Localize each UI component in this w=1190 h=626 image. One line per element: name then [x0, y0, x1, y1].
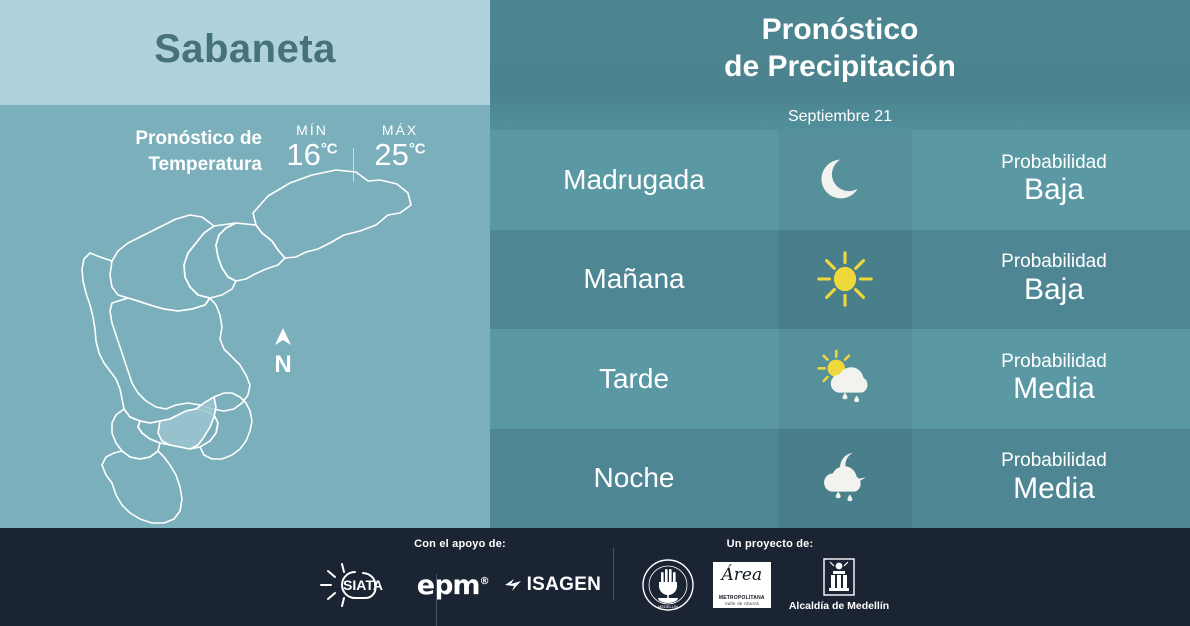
footer: Con el apoyo de: SIATA — [0, 528, 1190, 620]
weather-icon-cell — [778, 329, 912, 429]
municipality-girardota — [216, 223, 285, 281]
footer-divider-1 — [436, 574, 437, 626]
temperature-max-label: MÁX — [360, 122, 440, 138]
forecast-title-line2: de Precipitación — [724, 50, 956, 83]
probability-word: Probabilidad — [918, 251, 1190, 273]
footer-support-label: Con el apoyo de: — [300, 538, 620, 550]
municipality-caldas — [102, 451, 182, 523]
area-logo-sub2: Valle de Aburrá — [725, 601, 759, 606]
alcaldia-shield-icon — [822, 558, 856, 598]
forecast-panel: Pronóstico de Precipitación Septiembre 2… — [490, 0, 1190, 528]
footer-support-logos: SIATA epm® ISAGEN — [300, 554, 620, 616]
probability-word: Probabilidad — [918, 152, 1190, 174]
siata-logo-text: SIATA — [343, 577, 383, 593]
footer-support-group: Con el apoyo de: SIATA — [300, 528, 620, 620]
moon-cloud-rain-icon — [812, 445, 878, 511]
universidad-seal-text: MEDELLÍN — [658, 604, 678, 609]
city-band: Sabaneta — [0, 0, 490, 105]
forecast-header: Pronóstico de Precipitación Septiembre 2… — [490, 0, 1190, 130]
probability-cell: Probabilidad Baja — [912, 152, 1190, 208]
isagen-mark-icon — [503, 575, 523, 595]
area-logo-script: Área — [713, 565, 771, 585]
municipality-copacabana — [184, 223, 236, 298]
epm-logo: epm® — [417, 570, 489, 601]
forecast-title-line1: Pronóstico — [762, 13, 919, 46]
period-label: Mañana — [490, 263, 778, 295]
probability-level: Media — [918, 472, 1190, 507]
municipality-medellin — [110, 298, 250, 411]
probability-cell: Probabilidad Baja — [912, 251, 1190, 307]
forecast-row-madrugada: Madrugada Probabilidad Baja — [490, 130, 1190, 230]
municipality-barbosa — [253, 170, 411, 258]
period-label: Noche — [490, 462, 778, 494]
footer-project-group: Un proyecto de: MEDELLÍN — [620, 528, 910, 620]
forecast-date: Septiembre 21 — [490, 108, 1190, 126]
compass-north-label: N — [272, 353, 294, 377]
forecast-rows: Madrugada Probabilidad Baja Mañana — [490, 130, 1190, 528]
municipality-bello — [110, 215, 214, 311]
compass-arrow-icon — [272, 327, 294, 347]
map-area: Pronóstico de Temperatura MÍN 16°C MÁX 2… — [0, 105, 490, 528]
sun-cloud-rain-icon — [812, 346, 878, 412]
probability-level: Media — [918, 372, 1190, 407]
left-panel: Sabaneta Pronóstico de Temperatura MÍN 1… — [0, 0, 490, 528]
epm-registered-mark: ® — [480, 576, 489, 587]
forecast-row-noche: Noche Probabilidad Media — [490, 429, 1190, 529]
period-label: Madrugada — [490, 164, 778, 196]
period-label: Tarde — [490, 363, 778, 395]
epm-logo-text: epm — [417, 570, 480, 601]
compass: N — [272, 327, 294, 377]
probability-word: Probabilidad — [918, 351, 1190, 373]
municipality-medellin-west-border — [82, 253, 160, 423]
universidad-de-medellin-logo: MEDELLÍN — [641, 558, 695, 612]
probability-level: Baja — [918, 273, 1190, 308]
isagen-logo: ISAGEN — [503, 574, 602, 596]
footer-project-label: Un proyecto de: — [660, 538, 880, 550]
sun-icon — [814, 248, 876, 310]
weather-icon-cell — [778, 429, 912, 529]
weather-icon-cell — [778, 130, 912, 230]
probability-level: Baja — [918, 173, 1190, 208]
footer-project-logos: MEDELLÍN Área METROPOLITANA Valle de Abu… — [620, 554, 910, 616]
alcaldia-logo-text: Alcaldía de Medellín — [789, 600, 889, 612]
municipality-sabaneta-highlighted — [158, 397, 216, 449]
forecast-row-manana: Mañana — [490, 230, 1190, 330]
siata-sun-cloud-icon: SIATA — [319, 561, 403, 609]
probability-cell: Probabilidad Media — [912, 450, 1190, 506]
probability-word: Probabilidad — [918, 450, 1190, 472]
isagen-logo-text: ISAGEN — [527, 574, 602, 596]
probability-cell: Probabilidad Media — [912, 351, 1190, 407]
weather-icon-cell — [778, 230, 912, 330]
moon-icon — [814, 149, 876, 211]
alcaldia-de-medellin-logo: Alcaldía de Medellín — [789, 558, 889, 612]
city-name: Sabaneta — [0, 27, 490, 72]
temperature-title-line1: Pronóstico de — [135, 128, 262, 149]
footer-divider-2 — [613, 548, 614, 600]
forecast-row-tarde: Tarde — [490, 329, 1190, 429]
area-metropolitana-logo: Área METROPOLITANA Valle de Aburrá — [713, 562, 771, 608]
forecast-title: Pronóstico de Precipitación — [490, 12, 1190, 86]
siata-logo: SIATA — [319, 561, 403, 609]
weather-infographic: Sabaneta Pronóstico de Temperatura MÍN 1… — [0, 0, 1190, 620]
temperature-min-label: MÍN — [277, 122, 347, 138]
aburra-valley-map — [0, 153, 490, 528]
